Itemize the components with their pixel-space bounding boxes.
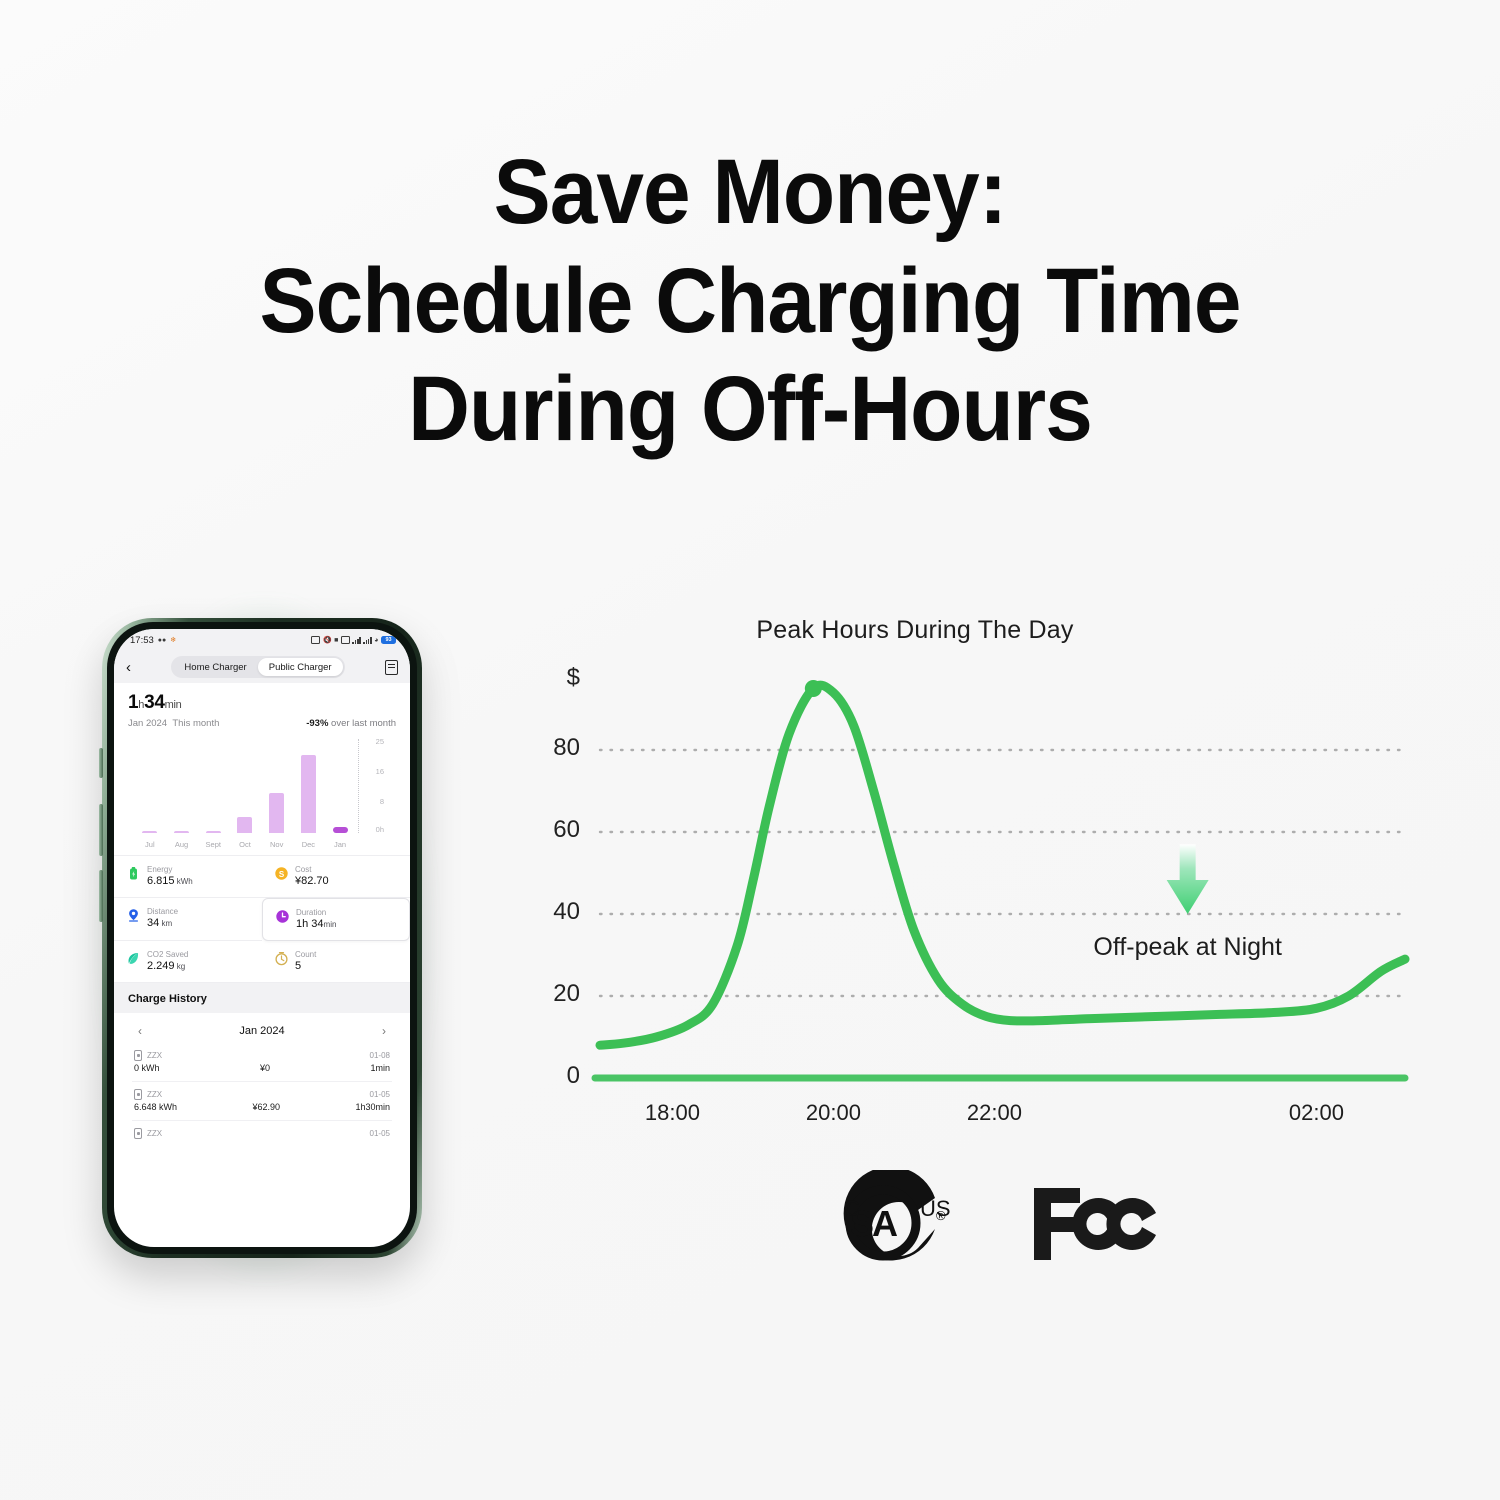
dual-sim-icon	[341, 636, 350, 644]
summary-period-note: This month	[172, 718, 219, 729]
phone-screen: 17:53 ●● ❄ 🔇 ■ ◕ 93	[114, 629, 410, 1247]
summary-delta-value: -93%	[306, 718, 328, 729]
history-month-label: Jan 2024	[239, 1025, 284, 1037]
bar-chart-column	[296, 743, 320, 833]
stat-card-distance[interactable]: Distance34 km	[114, 898, 262, 941]
summary-delta-note: over last month	[328, 718, 396, 729]
bar-chart-x-labels: JulAugSeptOctNovDecJan	[134, 840, 356, 849]
coin-icon: S	[274, 866, 289, 881]
history-station-name: ZZX	[147, 1129, 162, 1138]
document-icon[interactable]	[385, 660, 398, 675]
mute-icon: 🔇	[323, 637, 332, 644]
bar-chart-x-label: Nov	[264, 840, 288, 849]
tab-home-charger[interactable]: Home Charger	[173, 658, 257, 676]
bar-chart-bar	[174, 831, 189, 833]
history-energy: 0 kWh	[134, 1063, 160, 1073]
leaf-icon	[126, 951, 141, 966]
history-cost: ¥62.90	[177, 1102, 355, 1112]
clock-icon	[275, 909, 290, 924]
history-date: 01-05	[370, 1090, 390, 1099]
shield-icon	[311, 636, 320, 644]
stat-label: Cost	[295, 865, 311, 874]
phone-volume-up-button[interactable]	[99, 804, 103, 856]
charger-icon	[134, 1089, 142, 1100]
bar-chart-plot	[134, 743, 356, 833]
chart-canvas	[505, 608, 1435, 1138]
stat-label: Count	[295, 950, 316, 959]
charger-tabs: Home Charger Public Charger	[171, 656, 344, 678]
bar-chart-bar	[333, 827, 348, 833]
bar-chart-y-tick: 8	[380, 797, 384, 806]
stat-label: CO2 Saved	[147, 950, 188, 959]
bar-chart-y-tick: 0h	[376, 825, 384, 834]
history-rows: ZZX01-080 kWh¥01minZZX01-056.648 kWh¥62.…	[132, 1045, 392, 1145]
history-date: 01-08	[370, 1051, 390, 1060]
timer-icon	[274, 951, 289, 966]
bar-chart-x-label: Jan	[328, 840, 352, 849]
history-prev-button[interactable]: ‹	[138, 1024, 142, 1038]
tab-public-charger[interactable]: Public Charger	[258, 658, 343, 676]
history-date: 01-05	[370, 1129, 390, 1138]
history-duration: 1min	[370, 1063, 390, 1073]
app-navbar: ‹ Home Charger Public Charger	[114, 651, 410, 683]
flame-icon: ❄	[170, 637, 176, 644]
history-row[interactable]: ZZX01-05	[132, 1123, 392, 1145]
battery-icon: 93	[381, 636, 396, 645]
bar-chart-x-label: Oct	[233, 840, 257, 849]
bar-chart-column	[138, 743, 162, 833]
signal-5g-icon	[352, 636, 360, 644]
history-row[interactable]: ZZX01-056.648 kWh¥62.901h30min	[132, 1084, 392, 1118]
chart-y-tick: 0	[534, 1062, 580, 1090]
bar-chart-y-tick: 25	[376, 737, 384, 746]
certification-marks: S A ® C US	[800, 1170, 1220, 1290]
history-row[interactable]: ZZX01-080 kWh¥01min	[132, 1045, 392, 1079]
headline-line-2: Schedule Charging Time	[53, 247, 1448, 356]
stat-card-energy[interactable]: Energy6.815 kWh	[114, 856, 262, 898]
volte-icon: ■	[334, 637, 338, 644]
phone-mute-button[interactable]	[99, 748, 103, 778]
csa-suffix-us: US	[920, 1196, 951, 1222]
bar-chart-column	[328, 743, 352, 833]
status-bar-right: 🔇 ■ ◕ 93	[311, 636, 396, 645]
bar-chart-bar	[269, 793, 284, 833]
page-title: Save Money: Schedule Charging Time Durin…	[53, 138, 1448, 464]
chat-icon: ●●	[158, 637, 166, 644]
headline-line-1: Save Money:	[53, 138, 1448, 247]
csa-logo: S A ® C US	[820, 1170, 970, 1288]
history-station-name: ZZX	[147, 1051, 162, 1060]
phone-mockup: 17:53 ●● ❄ 🔇 ■ ◕ 93	[102, 604, 427, 1274]
history-station-name: ZZX	[147, 1090, 162, 1099]
chart-y-tick: 60	[534, 816, 580, 844]
status-bar: 17:53 ●● ❄ 🔇 ■ ◕ 93	[114, 629, 410, 651]
phone-volume-down-button[interactable]	[99, 870, 103, 922]
csa-prefix-c: C	[844, 1196, 860, 1222]
bar-chart-bar	[142, 831, 157, 833]
charge-history-title: Charge History	[114, 983, 410, 1013]
history-energy: 6.648 kWh	[134, 1102, 177, 1112]
battery-icon	[126, 866, 141, 881]
chart-y-tick: 40	[534, 898, 580, 926]
stat-value: 6.815 kWh	[147, 875, 193, 887]
chart-y-tick: 80	[534, 734, 580, 762]
monthly-bar-chart: JulAugSeptOctNovDecJan 251680h	[134, 737, 392, 849]
headline-line-3: During Off-Hours	[53, 355, 1448, 464]
history-next-button[interactable]: ›	[382, 1024, 386, 1038]
bar-chart-bar	[301, 755, 316, 833]
stat-label: Duration	[296, 908, 326, 917]
phone-bezel: 17:53 ●● ❄ 🔇 ■ ◕ 93	[107, 622, 417, 1254]
stat-card-co2-saved[interactable]: CO2 Saved2.249 kg	[114, 941, 262, 983]
chart-x-tick: 22:00	[939, 1100, 1049, 1126]
svg-text:A: A	[872, 1203, 898, 1244]
summary-delta: -93% over last month	[306, 718, 396, 729]
wifi-icon: ◕	[374, 637, 378, 644]
history-separator	[132, 1120, 392, 1121]
bar-chart-x-label: Jul	[138, 840, 162, 849]
bar-chart-y-axis: 251680h	[358, 737, 390, 833]
bar-chart-column	[201, 743, 225, 833]
history-separator	[132, 1081, 392, 1082]
stat-card-cost[interactable]: SCost¥82.70	[262, 856, 410, 898]
stat-card-duration[interactable]: Duration1h 34min	[262, 898, 410, 941]
history-month-nav: ‹ Jan 2024 ›	[132, 1017, 392, 1045]
chart-x-tick: 20:00	[778, 1100, 888, 1126]
stat-value: 5	[295, 960, 301, 972]
summary-subrow: Jan 2024 This month -93% over last month	[128, 718, 396, 729]
stat-value: 2.249 kg	[147, 960, 185, 972]
summary-period-month: Jan 2024	[128, 718, 167, 729]
stat-value: 1h 34min	[296, 918, 336, 930]
charge-history-card: ‹ Jan 2024 › ZZX01-080 kWh¥01minZZX01-05…	[122, 1013, 402, 1145]
stat-value: 34 km	[147, 917, 172, 929]
bar-chart-column	[264, 743, 288, 833]
signal-5g-2-icon	[363, 636, 371, 644]
duration-minutes: 34	[144, 692, 165, 713]
stat-card-count[interactable]: Count5	[262, 941, 410, 983]
total-duration: 1h34min	[128, 692, 396, 714]
summary-section: 1h34min Jan 2024 This month -93% over la…	[114, 683, 410, 849]
offpeak-annotation: Off-peak at Night	[1028, 933, 1348, 962]
status-bar-left: 17:53 ●● ❄	[130, 635, 176, 646]
chevron-left-icon[interactable]: ‹	[126, 660, 131, 675]
stat-value: ¥82.70	[295, 875, 329, 887]
summary-period: Jan 2024 This month	[128, 718, 219, 729]
bar-chart-bar	[206, 831, 221, 833]
stat-label: Distance	[147, 907, 178, 916]
stat-label: Energy	[147, 865, 172, 874]
charger-icon	[134, 1050, 142, 1061]
history-duration: 1h30min	[355, 1102, 390, 1112]
duration-hours: 1	[128, 692, 138, 713]
promo-page: Save Money: Schedule Charging Time Durin…	[0, 0, 1500, 1500]
location-pin-icon	[126, 908, 141, 923]
chart-x-tick: 02:00	[1261, 1100, 1371, 1126]
bar-chart-column	[169, 743, 193, 833]
chart-y-tick: 20	[534, 980, 580, 1008]
chart-y-unit-label: $	[534, 664, 580, 692]
chart-title: Peak Hours During The Day	[635, 616, 1195, 645]
bar-chart-x-label: Aug	[169, 840, 193, 849]
bar-chart-y-tick: 16	[376, 767, 384, 776]
svg-text:S: S	[279, 870, 285, 879]
fcc-logo	[1030, 1184, 1160, 1264]
bar-chart-bar	[237, 817, 252, 833]
bar-chart-x-label: Dec	[296, 840, 320, 849]
status-time: 17:53	[130, 635, 154, 646]
price-chart: Peak Hours During The Day 020406080$ 18:…	[505, 608, 1435, 1138]
chart-x-tick: 18:00	[617, 1100, 727, 1126]
bar-chart-column	[233, 743, 257, 833]
history-cost: ¥0	[160, 1063, 371, 1073]
stats-grid: Energy6.815 kWhSCost¥82.70Distance34 kmD…	[114, 855, 410, 983]
charger-icon	[134, 1128, 142, 1139]
duration-minutes-unit: min	[165, 699, 182, 711]
bar-chart-x-label: Sept	[201, 840, 225, 849]
